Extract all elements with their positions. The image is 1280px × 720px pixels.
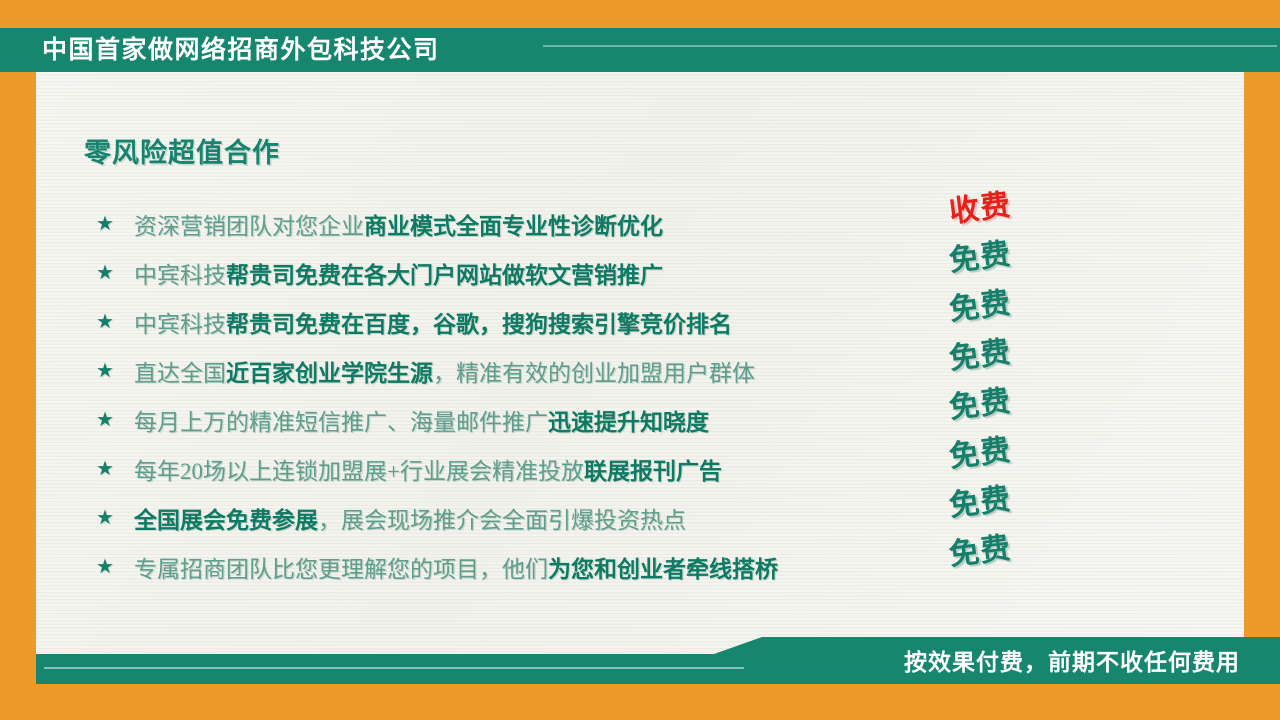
list-item-text-tail: ，精准有效的创业加盟用户群体 [433,361,755,386]
list-item-text-emphasis: 联展报刊广告 [584,459,722,484]
slide-root: 中国首家做网络招商外包科技公司 零风险超值合作 ★资深营销团队对您企业商业模式全… [0,0,1280,720]
star-bullet-icon: ★ [96,263,134,283]
list-item-text-emphasis: 帮贵司免费在百度，谷歌，搜狗搜索引擎竞价排名 [226,312,732,337]
list-item-text-light: 直达全国 [134,361,226,386]
list-item-text-emphasis: 为您和创业者牵线搭桥 [548,557,778,582]
header-hairline-divider [543,45,1277,47]
list-item-text-light: 每年20场以上连锁加盟展+行业展会精准投放 [134,459,584,484]
price-column: 收费免费免费免费免费免费免费免费 [950,193,1070,585]
list-item-text-tail: ，展会现场推介会全面引爆投资热点 [318,508,686,533]
list-item-text-emphasis: 迅速提升知晓度 [548,410,709,435]
list-item-text-emphasis: 帮贵司免费在各大门户网站做软文营销推广 [226,263,663,288]
list-item-text-light: 资深营销团队对您企业 [134,214,364,239]
list-item-text-light: 每月上万的精准短信推广、海量邮件推广 [134,410,548,435]
star-bullet-icon: ★ [96,459,134,479]
header-title: 中国首家做网络招商外包科技公司 [42,28,440,72]
list-item-text-emphasis: 近百家创业学院生源 [226,361,433,386]
list-item-text-light: 中宾科技 [134,312,226,337]
footer-tagline: 按效果付费，前期不收任何费用 [904,640,1240,684]
footer-hairline-divider [44,667,744,669]
list-item-text-emphasis: 全国展会免费参展 [134,508,318,533]
star-bullet-icon: ★ [96,312,134,332]
list-item-text-emphasis: 商业模式全面专业性诊断优化 [364,214,663,239]
star-bullet-icon: ★ [96,557,134,577]
section-title: 零风险超值合作 [84,131,280,170]
star-bullet-icon: ★ [96,508,134,528]
star-bullet-icon: ★ [96,214,134,234]
star-bullet-icon: ★ [96,410,134,430]
list-item-text-light: 中宾科技 [134,263,226,288]
list-item-text-light: 专属招商团队比您更理解您的项目，他们 [134,557,548,582]
star-bullet-icon: ★ [96,361,134,381]
